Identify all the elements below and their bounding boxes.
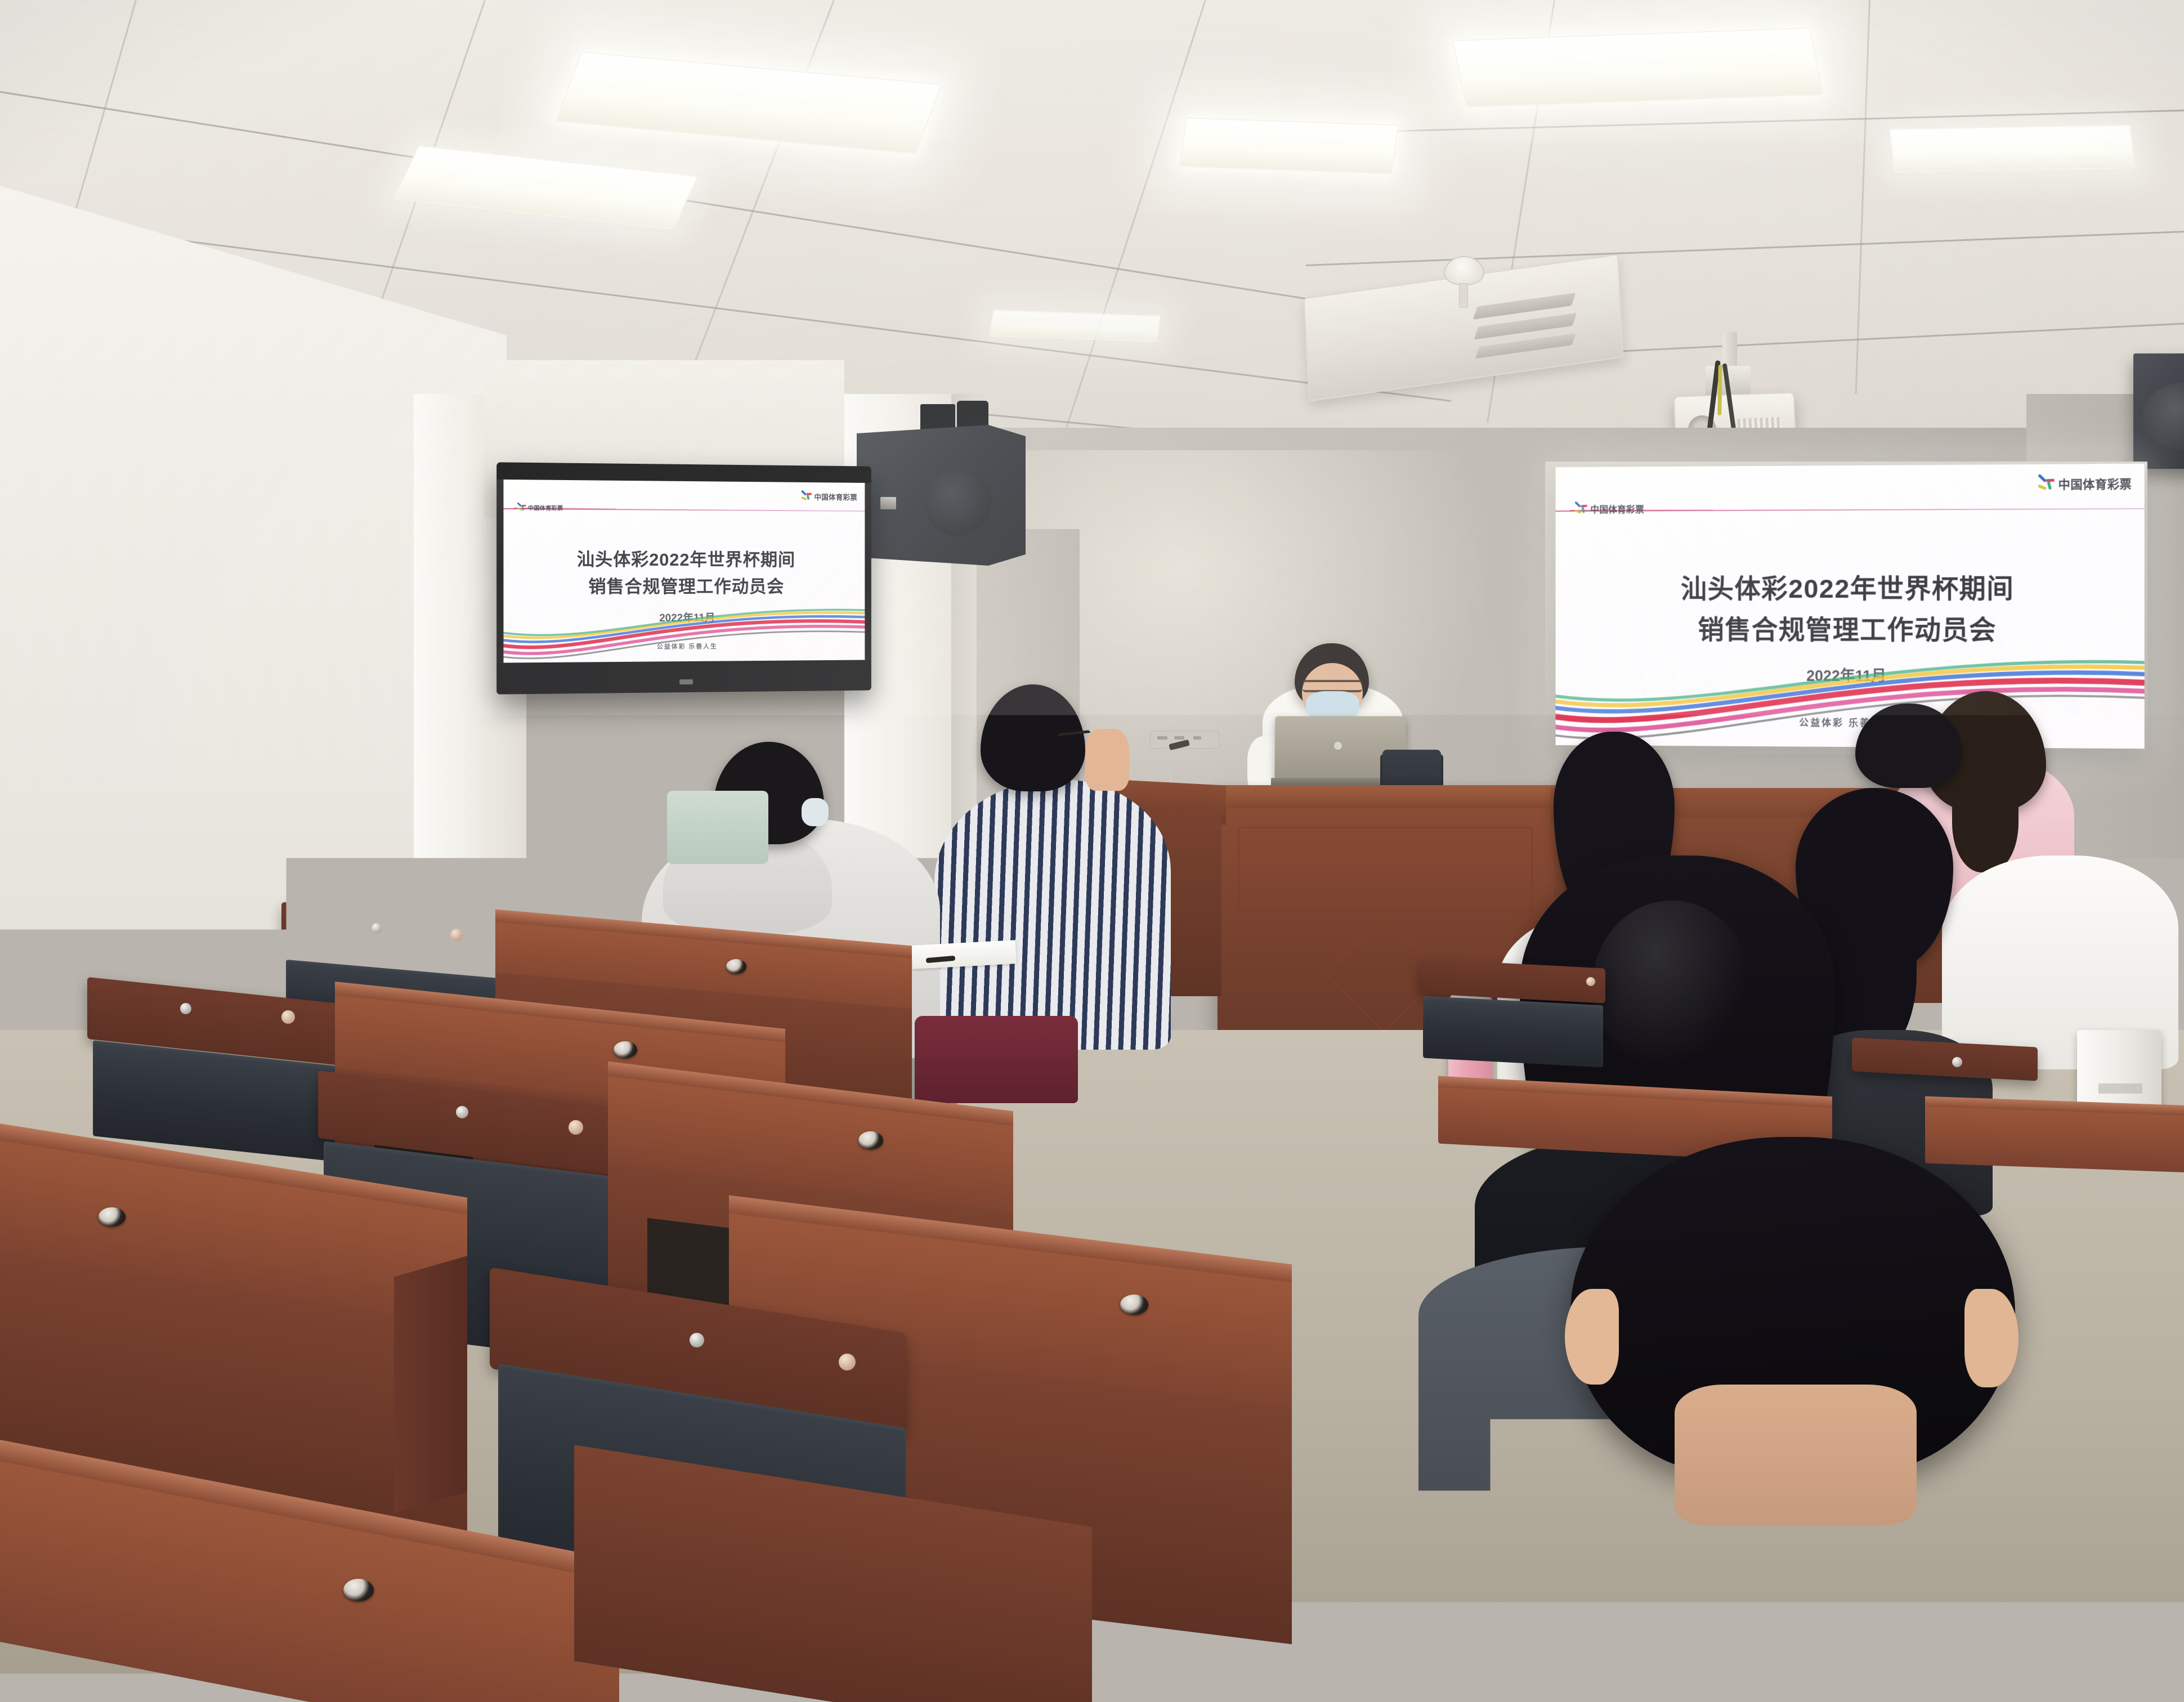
slide-slogan: 公益体彩 乐善人生 (1556, 714, 2145, 731)
attendee-hoodie-mask (802, 798, 829, 826)
brand-logo-text: 中国体育彩票 (814, 491, 857, 501)
chair-stud-icon (1586, 977, 1595, 986)
desk-grommet (726, 959, 746, 974)
tv-lower-bezel (496, 660, 871, 694)
desk-side-panel (394, 1256, 467, 1513)
speaker-driver-icon (924, 469, 992, 536)
slide-title-line1: 汕头体彩2022年世界杯期间 (1556, 569, 2145, 608)
ceiling-light-panel (1452, 28, 1824, 108)
brand-logo: 中国体育彩票 (800, 490, 857, 503)
brand-logo-inline: 中国体育彩票 (516, 503, 563, 513)
attendee-striped-shirt-arm (1085, 729, 1129, 791)
slide-date: 2022年11月 (503, 609, 865, 625)
brand-logo-text: 中国体育彩票 (528, 503, 563, 512)
slide-ribbon-graphic (1556, 645, 2145, 749)
projection-screen: 中国体育彩票 中国体育彩票 汕头体彩2022年世界杯期间 销售合规管理工作动员会… (1556, 464, 2145, 749)
brand-logo-text: 中国体育彩票 (2058, 475, 2132, 492)
brand-logo: 中国体育彩票 (2035, 474, 2132, 494)
ceiling-light-panel (1179, 117, 1399, 174)
lottery-pinwheel-icon (800, 490, 812, 503)
podium-panel (1238, 827, 1533, 911)
slide-content-projected: 中国体育彩票 中国体育彩票 汕头体彩2022年世界杯期间 销售合规管理工作动员会… (1556, 464, 2145, 749)
slide-slogan: 公益体彩 乐善人生 (503, 641, 865, 652)
slide-title-line2: 销售合规管理工作动员会 (503, 575, 865, 601)
chair-stud-icon (372, 923, 382, 933)
tv-power-indicator-icon (679, 679, 693, 684)
chair-stud-icon (281, 1010, 295, 1024)
mug-label-icon (2098, 1083, 2142, 1094)
tv-screen: 中国体育彩票 中国体育彩票 汕头体彩2022年世界杯期间 销售合规管理工作动员会… (503, 480, 865, 663)
desk-grommet (343, 1579, 374, 1601)
chair-stud-icon (690, 1333, 704, 1347)
laptop-logo-icon (1334, 742, 1342, 750)
chair-stud-icon (839, 1354, 856, 1370)
attendee-front-striped-ear (1964, 1289, 2019, 1387)
attendee-pink-top-ponytail (1952, 760, 2019, 872)
chair-stud-icon (569, 1120, 583, 1135)
presenter-glasses-icon (1303, 680, 1362, 692)
chair-stud-icon (180, 1003, 191, 1014)
chair-back-rest (667, 791, 768, 864)
attendee-striped-shirt-torso (934, 780, 1171, 1050)
attendee-black-top-hair-sheen (1593, 901, 1751, 1069)
desk-grommet (99, 1207, 126, 1226)
brand-logo-text: 中国体育彩票 (1590, 502, 1644, 516)
chair-stud-icon (450, 929, 463, 941)
smoke-detector-stem (1459, 283, 1468, 308)
slide-content-tv: 中国体育彩票 中国体育彩票 汕头体彩2022年世界杯期间 销售合规管理工作动员会… (503, 480, 865, 663)
lottery-pinwheel-icon (1573, 501, 1587, 516)
meeting-room-photo: 中国体育彩票 中国体育彩票 汕头体彩2022年世界杯期间 销售合规管理工作动员会… (0, 0, 2184, 1702)
desk-grommet (1120, 1295, 1148, 1315)
maroon-bag (915, 1016, 1078, 1103)
ceiling-light-panel (1889, 124, 2136, 172)
slide-title-line1: 汕头体彩2022年世界杯期间 (503, 547, 865, 573)
slide-title-line2: 销售合规管理工作动员会 (1556, 611, 2145, 650)
brand-logo-inline: 中国体育彩票 (1573, 501, 1644, 516)
desk-grommet (858, 1131, 883, 1149)
wall-mounted-tv[interactable]: 中国体育彩票 中国体育彩票 汕头体彩2022年世界杯期间 销售合规管理工作动员会… (496, 462, 871, 694)
lottery-pinwheel-icon (2035, 474, 2055, 494)
wall-speaker-right (2133, 353, 2184, 469)
slide-date: 2022年11月 (1556, 663, 2145, 687)
speaker-badge-icon (880, 497, 896, 509)
speaker-driver-icon (2142, 383, 2184, 450)
lottery-pinwheel-icon (516, 503, 526, 512)
attendee-front-striped-ear (1565, 1289, 1619, 1385)
desk-grommet (614, 1041, 637, 1058)
chair-pad (1423, 996, 1603, 1068)
wall-speaker-left (857, 425, 1026, 566)
chair-stud-icon (456, 1106, 468, 1118)
chair-stud-icon (1952, 1057, 1962, 1067)
